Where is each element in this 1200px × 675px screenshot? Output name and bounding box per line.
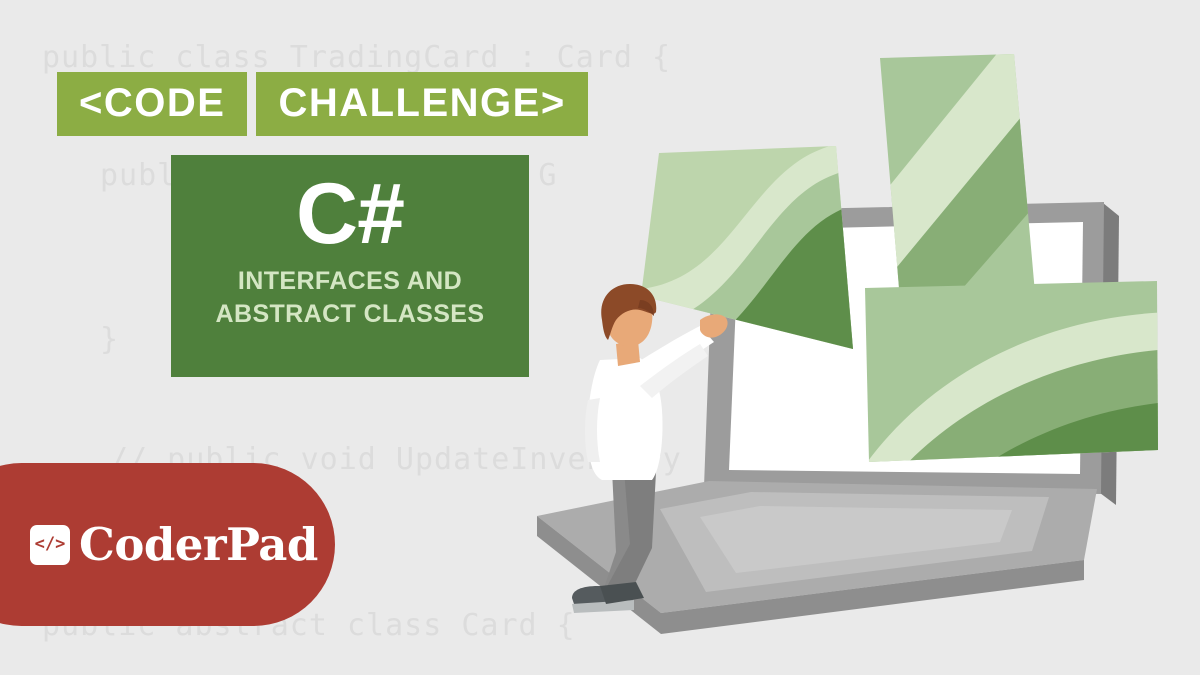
- brand-name: CoderPad: [79, 522, 318, 567]
- topic-subtitle-line-1: INTERFACES AND: [216, 265, 485, 298]
- topic-card: C# INTERFACES AND ABSTRACT CLASSES: [171, 155, 529, 377]
- topic-subtitle: INTERFACES AND ABSTRACT CLASSES: [216, 265, 485, 331]
- poster-canvas: public class TradingCard : Card { public…: [0, 0, 1200, 675]
- language-label: C#: [296, 169, 404, 259]
- coderpad-logo-pill: </> CoderPad: [0, 463, 335, 626]
- code-brackets-glyph: </>: [35, 536, 66, 553]
- coderpad-logo: </> CoderPad: [30, 522, 318, 567]
- topic-subtitle-line-2: ABSTRACT CLASSES: [216, 298, 485, 331]
- tag-challenge: CHALLENGE>: [256, 72, 587, 136]
- code-brackets-icon: </>: [30, 525, 70, 565]
- tag-code: <CODE: [57, 72, 247, 136]
- code-challenge-banner: <CODE CHALLENGE>: [57, 72, 588, 136]
